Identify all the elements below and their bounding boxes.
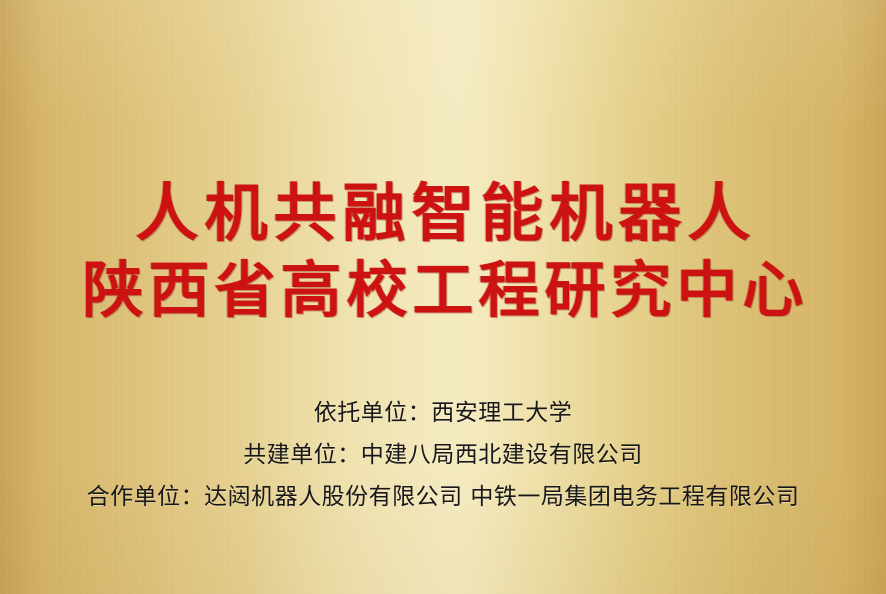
subtitle-line-cooperating-units: 合作单位：达闼机器人股份有限公司 中铁一局集团电务工程有限公司 <box>0 476 886 518</box>
plaque-subtitle-block: 依托单位：西安理工大学 共建单位：中建八局西北建设有限公司 合作单位：达闼机器人… <box>0 392 886 518</box>
plaque-title: 人机共融智能机器人 陕西省高校工程研究中心 <box>0 174 886 330</box>
title-line-2: 陕西省高校工程研究中心 <box>0 252 886 330</box>
subtitle-line-supporting-unit: 依托单位：西安理工大学 <box>0 392 886 434</box>
subtitle-line-co-building-unit: 共建单位：中建八局西北建设有限公司 <box>0 434 886 476</box>
plaque-board: 人机共融智能机器人 陕西省高校工程研究中心 依托单位：西安理工大学 共建单位：中… <box>0 0 886 594</box>
title-line-1: 人机共融智能机器人 <box>0 174 886 252</box>
plaque-content: 人机共融智能机器人 陕西省高校工程研究中心 依托单位：西安理工大学 共建单位：中… <box>0 0 886 594</box>
